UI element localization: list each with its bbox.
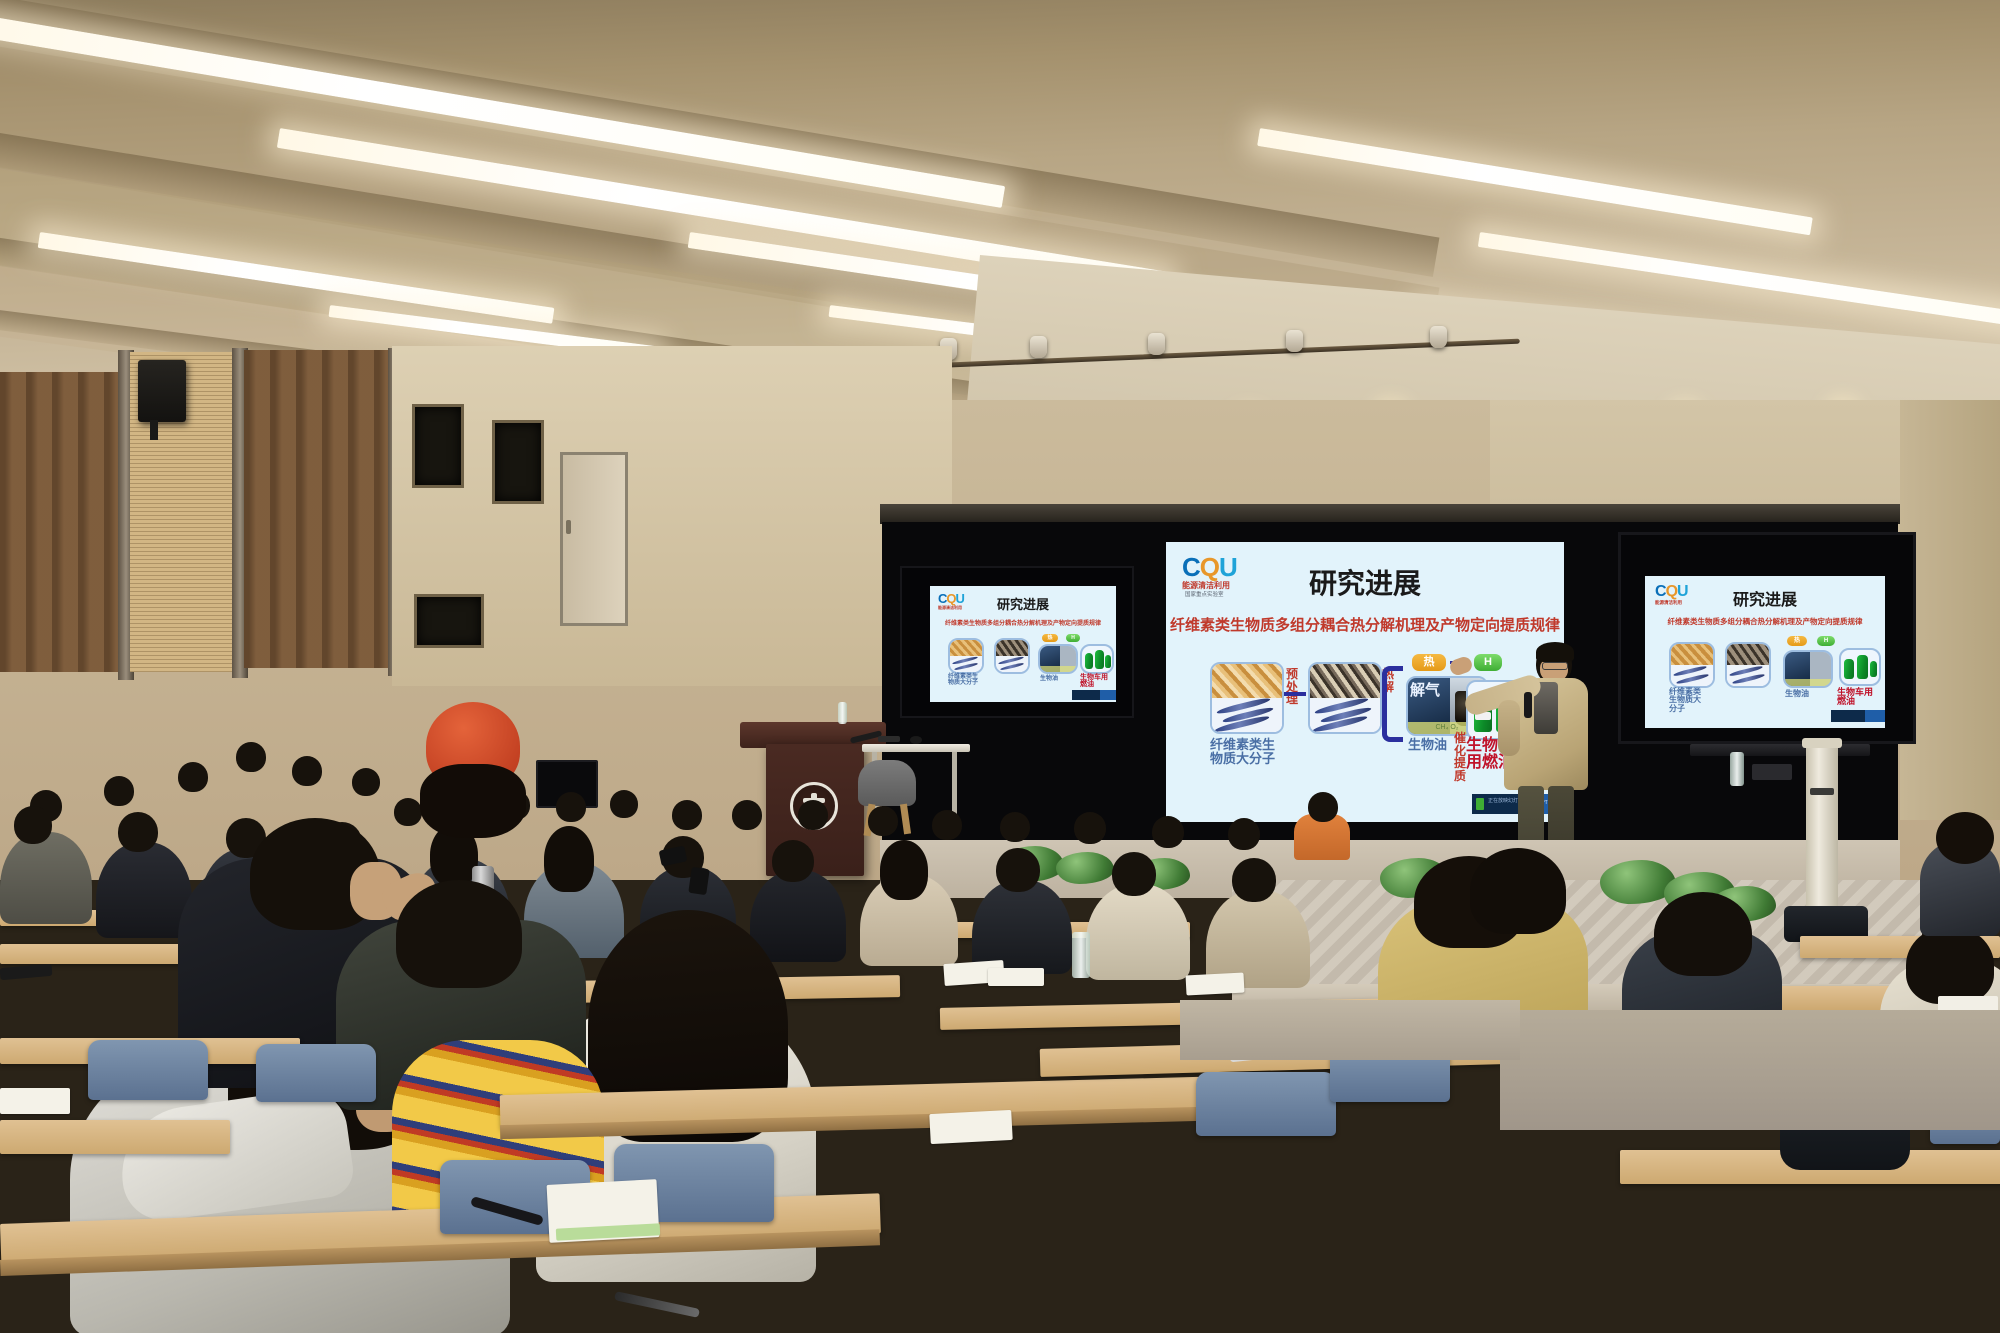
mini-slide-subtitle: 纤维素类生物质多组分耦合热分解机理及产物定向提质规律 xyxy=(930,618,1116,627)
audience-head xyxy=(1470,848,1566,934)
av-table xyxy=(862,744,970,752)
mini-taskbar[interactable] xyxy=(1072,690,1116,700)
presenter-arm-lower xyxy=(1498,700,1520,756)
slide-arrow xyxy=(1284,692,1306,696)
stage-chair[interactable] xyxy=(858,760,916,806)
smartphone[interactable] xyxy=(688,867,709,895)
slide-caption-biooil: 生物油 xyxy=(1408,738,1448,752)
slide-chip-heat: 热 xyxy=(1412,654,1446,671)
side-door xyxy=(560,452,628,626)
spotlight xyxy=(1148,333,1165,355)
spotlight xyxy=(1286,330,1303,352)
right-slide-subtitle: 纤维素类生物质多组分耦合热分解机理及产物定向提质规律 xyxy=(1645,616,1885,627)
pedestal-label xyxy=(1810,788,1834,795)
chair[interactable] xyxy=(88,1040,208,1100)
spotlight xyxy=(1030,336,1047,358)
speaker-bracket xyxy=(150,420,158,440)
curtain-mid-left xyxy=(244,350,394,668)
notebook[interactable] xyxy=(929,1110,1012,1144)
right-caption-biooil: 生物油 xyxy=(1785,690,1809,698)
slide-caption-stage1: 纤维素类生物质大分子 xyxy=(1210,738,1280,765)
display-stand-shelf xyxy=(1690,744,1870,756)
mini-chip-h2: H xyxy=(1066,634,1080,642)
mini-caption-biooil: 生物油 xyxy=(1040,676,1060,682)
audience-head xyxy=(396,880,522,988)
right-caption-stage1: 纤维素类生物质大分子 xyxy=(1669,688,1705,713)
water-bottle-desk[interactable] xyxy=(1072,932,1090,978)
water-bottle[interactable] xyxy=(1730,752,1744,786)
right-chip-heat: 热 xyxy=(1787,636,1807,646)
notebook[interactable] xyxy=(988,968,1044,986)
right-chip-h2: H xyxy=(1817,636,1835,646)
mini-slide-title: 研究进展 xyxy=(930,594,1116,613)
slide-caption-pretreat: 预处理 xyxy=(1286,668,1302,706)
right-slide-title: 研究进展 xyxy=(1645,586,1885,610)
pen[interactable] xyxy=(614,1291,700,1318)
floor-aisle xyxy=(1180,1000,1520,1060)
microphone[interactable] xyxy=(1524,692,1532,718)
right-taskbar[interactable] xyxy=(1831,710,1885,722)
curtain-left xyxy=(0,372,128,672)
left-monitor-slide[interactable]: CQU 能源清洁利用 研究进展 纤维素类生物质多组分耦合热分解机理及产物定向提质… xyxy=(930,586,1116,702)
laptop-device[interactable] xyxy=(1752,764,1792,780)
chair[interactable] xyxy=(1196,1072,1336,1136)
slide-image-biomass-treated xyxy=(1308,662,1382,734)
slide-panel-label: 解气 xyxy=(1410,684,1440,698)
audience-head xyxy=(1906,926,1994,1004)
smartphone[interactable] xyxy=(0,964,52,980)
slide-subtitle: 纤维素类生物质多组分耦合热分解机理及产物定向提质规律 xyxy=(1166,614,1564,635)
chair[interactable] xyxy=(256,1044,376,1102)
wall-speaker xyxy=(138,360,186,422)
acoustic-panel xyxy=(492,420,544,504)
lecture-hall-photo: CQU 能源清洁利用 国家重点实验室 研究进展 纤维素类生物质多组分耦合热分解机… xyxy=(0,0,2000,1333)
mini-chip-heat: 热 xyxy=(1042,634,1058,642)
av-puck-device[interactable] xyxy=(910,736,922,744)
av-remote[interactable] xyxy=(878,736,900,742)
mini-caption-stage1: 纤维素类生物质大分子 xyxy=(948,674,978,687)
right-monitor-slide[interactable]: CQU 能源清洁利用 研究进展 纤维素类生物质多组分耦合热分解机理及产物定向提质… xyxy=(1645,576,1885,728)
presenter-glasses xyxy=(1542,662,1568,670)
slide-image-biomass-raw xyxy=(1210,662,1284,734)
audience-head xyxy=(1654,892,1752,976)
slide-chip-h2: H xyxy=(1474,654,1502,671)
spotlight xyxy=(1430,326,1447,348)
notebook[interactable] xyxy=(1186,972,1245,995)
notebook[interactable] xyxy=(0,1088,70,1114)
mini-caption-biofuel: 生物车用燃油 xyxy=(1080,674,1112,689)
floor xyxy=(1500,1010,2000,1130)
ceiling-light-strip xyxy=(1257,128,1813,235)
right-caption-biofuel: 生物车用燃油 xyxy=(1837,688,1877,707)
acoustic-panel xyxy=(414,594,484,648)
desk-front-left xyxy=(0,1120,230,1154)
door-handle[interactable] xyxy=(566,520,571,534)
podium-water-bottle[interactable] xyxy=(838,702,847,724)
pedestal-cap xyxy=(1802,738,1842,748)
av-pedestal-column xyxy=(1806,742,1838,914)
acoustic-panel xyxy=(412,404,464,488)
slide-title: 研究进展 xyxy=(1166,562,1564,602)
audience-head xyxy=(1936,812,1994,864)
audience-hair-under-beret xyxy=(420,764,526,838)
backdrop-trim xyxy=(880,504,1900,524)
presenter-hair xyxy=(1536,642,1574,662)
